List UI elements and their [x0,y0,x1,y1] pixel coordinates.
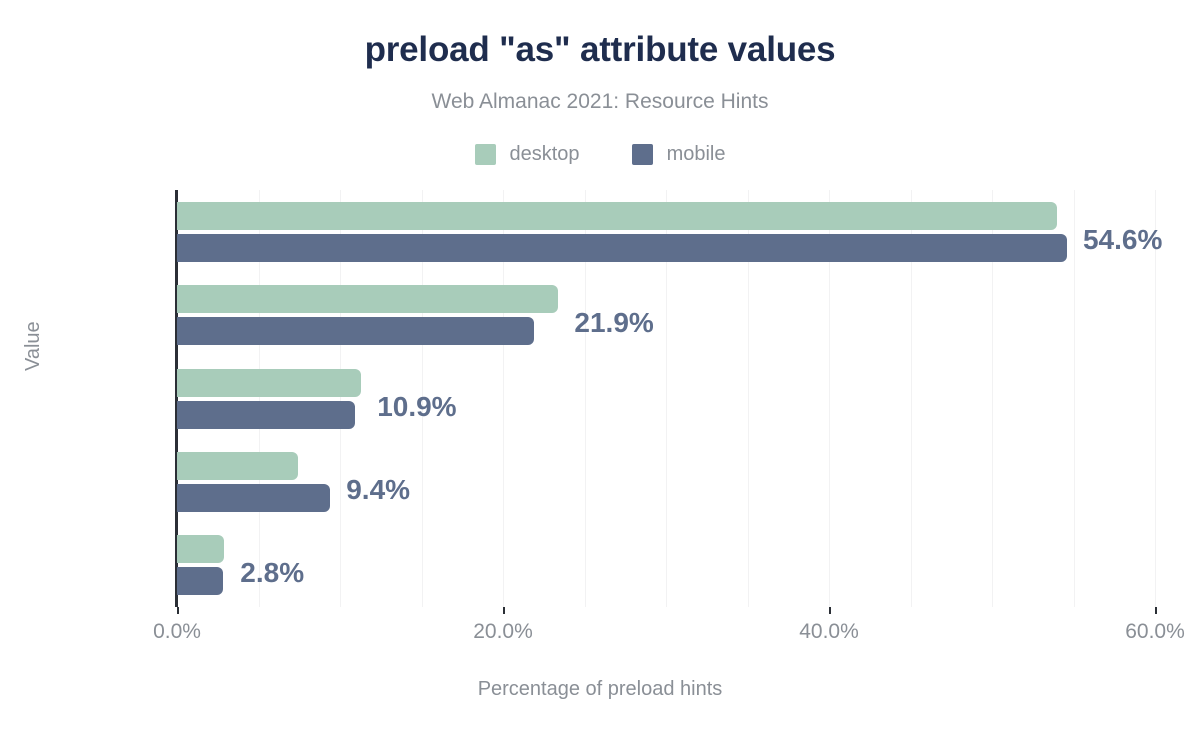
legend-swatch-desktop [475,144,496,165]
x-tick-label-40: 40.0% [749,620,909,644]
x-tick-mark [503,607,505,614]
x-tick-label-0: 0.0% [97,620,257,644]
y-axis-title: Value [22,321,45,371]
bar-group-image: 2.8% [177,535,1155,595]
bar-fetch-desktop[interactable] [177,452,298,480]
x-tick-label-20: 20.0% [423,620,583,644]
bar-group-style: 10.9% [177,369,1155,429]
bar-style-desktop[interactable] [177,369,361,397]
chart-figure: preload "as" attribute values Web Almana… [0,0,1200,742]
x-tick-label-60: 60.0% [1075,620,1200,644]
bar-style-mobile[interactable] [177,401,355,429]
legend-label-desktop: desktop [510,143,580,166]
bar-image-mobile[interactable] [177,567,223,595]
data-label-style: 10.9% [377,391,456,423]
data-label-script: 54.6% [1083,224,1162,256]
legend-label-mobile: mobile [667,143,726,166]
bar-script-desktop[interactable] [177,202,1057,230]
legend-swatch-mobile [632,144,653,165]
data-label-image: 2.8% [240,557,304,589]
bar-group-font: 21.9% [177,285,1155,345]
bar-image-desktop[interactable] [177,535,224,563]
data-label-font: 21.9% [574,307,653,339]
bar-fetch-mobile[interactable] [177,484,330,512]
chart-legend: desktopmobile [0,143,1200,166]
x-axis-title: Percentage of preload hints [0,678,1200,701]
bar-font-desktop[interactable] [177,285,558,313]
chart-subtitle: Web Almanac 2021: Resource Hints [0,90,1200,114]
bar-font-mobile[interactable] [177,317,534,345]
legend-item-mobile[interactable]: mobile [632,143,726,166]
plot-area: 54.6%21.9%10.9%9.4%2.8% scriptfontstylef… [177,190,1155,607]
data-label-fetch: 9.4% [346,474,410,506]
page-title: preload "as" attribute values [0,30,1200,70]
x-tick-mark [829,607,831,614]
bar-group-script: 54.6% [177,202,1155,262]
x-tick-mark [177,607,179,614]
legend-item-desktop[interactable]: desktop [475,143,580,166]
bar-group-fetch: 9.4% [177,452,1155,512]
bar-script-mobile[interactable] [177,234,1067,262]
x-tick-mark [1155,607,1157,614]
